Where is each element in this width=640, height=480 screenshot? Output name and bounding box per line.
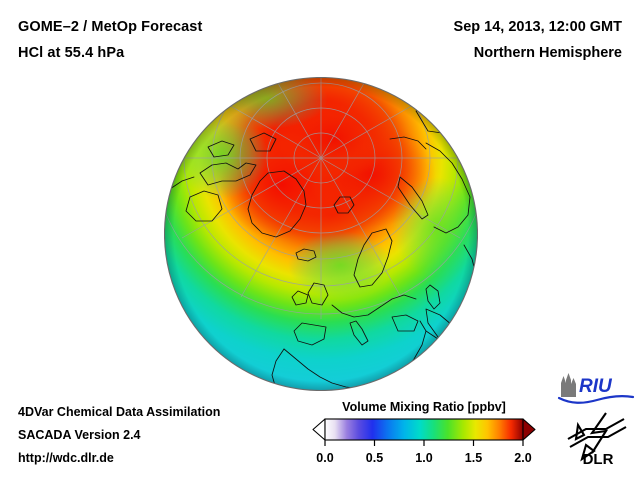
colorbar-cap-high bbox=[523, 419, 535, 440]
figure-title-line2: HCl at 55.4 hPa bbox=[18, 40, 202, 66]
riu-wordmark: RIU bbox=[579, 376, 613, 397]
figure-title-line1: GOME–2 / MetOp Forecast bbox=[18, 14, 202, 40]
colorbar-tick-label-4: 2.0 bbox=[514, 451, 531, 465]
globe-map bbox=[164, 77, 478, 391]
dlr-wordmark: DLR bbox=[583, 451, 614, 467]
footer-line-method: 4DVar Chemical Data Assimilation bbox=[18, 401, 220, 424]
colorbar-gradient bbox=[325, 419, 523, 440]
colorbar: Volume Mixing Ratio [ppbv] bbox=[306, 400, 542, 470]
colorbar-tick-label-0: 0.0 bbox=[316, 451, 333, 465]
figure-title-block: GOME–2 / MetOp Forecast HCl at 55.4 hPa bbox=[18, 14, 202, 66]
footer-line-url[interactable]: http://wdc.dlr.de bbox=[18, 447, 220, 470]
figure-canvas: GOME–2 / MetOp Forecast HCl at 55.4 hPa … bbox=[0, 0, 640, 480]
footer-line-version: SACADA Version 2.4 bbox=[18, 424, 220, 447]
colorbar-tick-label-2: 1.0 bbox=[415, 451, 432, 465]
colorbar-ticks bbox=[325, 440, 523, 446]
colorbar-svg: 0.0 0.5 1.0 1.5 2.0 bbox=[306, 416, 542, 470]
riu-wave-icon bbox=[559, 396, 633, 403]
figure-meta-block: Sep 14, 2013, 12:00 GMT Northern Hemisph… bbox=[454, 14, 622, 66]
globe-svg bbox=[164, 77, 478, 391]
riu-tower-icon bbox=[561, 373, 576, 397]
colorbar-cap-low bbox=[313, 419, 325, 440]
riu-logo: RIU bbox=[557, 371, 635, 405]
colorbar-tick-label-1: 0.5 bbox=[366, 451, 383, 465]
dlr-logo: DLR bbox=[562, 409, 632, 467]
footer-credits: 4DVar Chemical Data Assimilation SACADA … bbox=[18, 401, 220, 470]
hcl-scalar-field bbox=[164, 77, 478, 391]
figure-datetime: Sep 14, 2013, 12:00 GMT bbox=[454, 14, 622, 40]
colorbar-title: Volume Mixing Ratio [ppbv] bbox=[306, 400, 542, 414]
colorbar-tick-label-3: 1.5 bbox=[465, 451, 482, 465]
figure-region: Northern Hemisphere bbox=[454, 40, 622, 66]
